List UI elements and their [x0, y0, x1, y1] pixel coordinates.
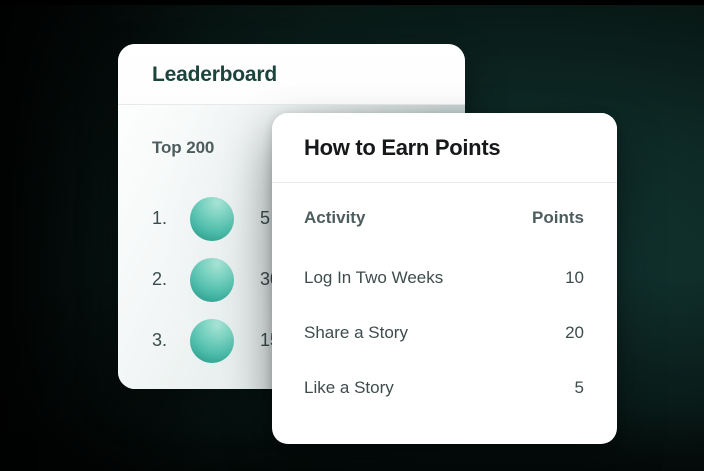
activity-name: Log In Two Weeks — [272, 251, 445, 306]
points-card-header: How to Earn Points — [272, 113, 617, 183]
leaderboard-rank: 1. — [152, 208, 190, 229]
points-table-header-row: Activity Points — [272, 183, 617, 251]
table-row[interactable]: Like a Story 5 — [272, 361, 617, 416]
avatar — [190, 258, 234, 302]
table-row[interactable]: Log In Two Weeks 10 — [272, 251, 617, 306]
leaderboard-section-label: Top 200 — [152, 138, 214, 158]
points-table-body: Log In Two Weeks 10 Share a Story 20 Lik… — [272, 251, 617, 416]
column-header-points: Points — [445, 183, 618, 251]
avatar — [190, 319, 234, 363]
activity-name: Share a Story — [272, 306, 445, 361]
activity-points: 5 — [445, 361, 618, 416]
points-table-head: Activity Points — [272, 183, 617, 251]
points-card-title: How to Earn Points — [304, 135, 500, 161]
avatar — [190, 197, 234, 241]
leaderboard-rank: 3. — [152, 330, 190, 351]
leaderboard-score: 5 — [260, 208, 270, 229]
column-header-activity: Activity — [272, 183, 445, 251]
background-top-band — [0, 0, 704, 5]
leaderboard-header: Leaderboard — [118, 44, 465, 105]
how-to-earn-points-card: How to Earn Points Activity Points Log I… — [272, 113, 617, 444]
leaderboard-title: Leaderboard — [152, 63, 277, 87]
activity-name: Like a Story — [272, 361, 445, 416]
activity-points: 10 — [445, 251, 618, 306]
activity-points: 20 — [445, 306, 618, 361]
points-table: Activity Points Log In Two Weeks 10 Shar… — [272, 183, 617, 416]
leaderboard-rank: 2. — [152, 269, 190, 290]
table-row[interactable]: Share a Story 20 — [272, 306, 617, 361]
